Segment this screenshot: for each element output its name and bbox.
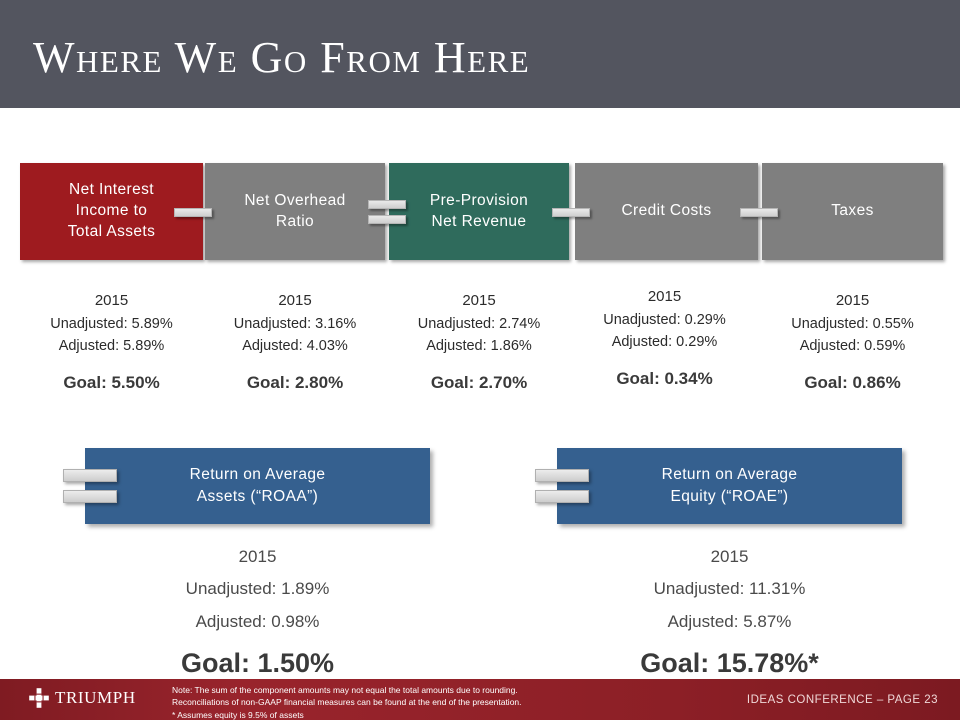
metric-column-net-interest-income: 2015 Unadjusted: 5.89% Adjusted: 5.89% G… bbox=[20, 290, 203, 393]
equals-bar-top bbox=[63, 469, 117, 482]
metric-adjusted: Adjusted: 4.03% bbox=[205, 335, 385, 357]
return-box-label-line2: Equity (“ROAE”) bbox=[671, 488, 789, 505]
page-title: Where We Go From Here bbox=[33, 36, 530, 80]
metric-goal: Goal: 2.80% bbox=[205, 373, 385, 393]
minus-bar bbox=[740, 208, 778, 217]
footer-page-label: IDEAS CONFERENCE – PAGE 23 bbox=[747, 694, 938, 706]
return-box-label: Return on Average Assets (“ROAA”) bbox=[190, 464, 326, 507]
operator-equals-roaa bbox=[63, 466, 117, 506]
operator-minus-3 bbox=[740, 199, 778, 225]
metric-column-net-overhead-ratio: 2015 Unadjusted: 3.16% Adjusted: 4.03% G… bbox=[205, 290, 385, 393]
operator-minus-1 bbox=[174, 199, 212, 225]
minus-bar bbox=[552, 208, 590, 217]
metric-goal: Goal: 0.34% bbox=[573, 369, 756, 389]
metric-goal: Goal: 0.86% bbox=[762, 373, 943, 393]
slide-canvas: Where We Go From Here Net Interest Incom… bbox=[0, 0, 960, 720]
process-box-credit-costs[interactable]: Credit Costs bbox=[575, 163, 758, 260]
process-box-label: Net Overhead Ratio bbox=[244, 191, 345, 233]
return-year: 2015 bbox=[557, 541, 902, 573]
metric-year: 2015 bbox=[762, 290, 943, 313]
footer-note-line3: * Assumes equity is 9.5% of assets bbox=[172, 709, 522, 721]
equals-bar-top bbox=[368, 200, 406, 209]
metric-goal: Goal: 5.50% bbox=[20, 373, 203, 393]
process-box-label-line1: Credit Costs bbox=[621, 201, 711, 222]
process-box-label-line3: Total Assets bbox=[68, 222, 156, 243]
process-box-taxes[interactable]: Taxes bbox=[762, 163, 943, 260]
equals-bar-bottom bbox=[63, 490, 117, 503]
return-box-roae[interactable]: Return on Average Equity (“ROAE”) bbox=[557, 448, 902, 524]
process-box-pre-provision-net-revenue[interactable]: Pre-Provision Net Revenue bbox=[389, 163, 569, 260]
equals-bar-top bbox=[535, 469, 589, 482]
operator-equals-roae bbox=[535, 466, 589, 506]
operator-equals-1 bbox=[368, 199, 406, 225]
process-box-label: Net Interest Income to Total Assets bbox=[68, 180, 156, 243]
metric-column-credit-costs: 2015 Unadjusted: 0.29% Adjusted: 0.29% G… bbox=[573, 286, 756, 389]
process-box-label-line1: Pre-Provision bbox=[430, 191, 528, 212]
minus-bar bbox=[174, 208, 212, 217]
process-box-label: Pre-Provision Net Revenue bbox=[430, 191, 528, 233]
return-box-label: Return on Average Equity (“ROAE”) bbox=[662, 464, 798, 507]
return-unadjusted: Unadjusted: 1.89% bbox=[85, 573, 430, 605]
metric-adjusted: Adjusted: 5.89% bbox=[20, 335, 203, 357]
equals-bar-bottom bbox=[368, 215, 406, 224]
metric-goal: Goal: 2.70% bbox=[389, 373, 569, 393]
return-stats-roae: 2015 Unadjusted: 11.31% Adjusted: 5.87% … bbox=[557, 541, 902, 679]
metric-adjusted: Adjusted: 0.59% bbox=[762, 335, 943, 357]
brand-logo-text: TRIUMPH bbox=[55, 688, 136, 708]
metric-unadjusted: Unadjusted: 2.74% bbox=[389, 313, 569, 335]
operator-minus-2 bbox=[552, 199, 590, 225]
return-box-label-line1: Return on Average bbox=[190, 466, 326, 483]
process-box-label-line1: Net Interest bbox=[68, 180, 156, 201]
process-box-label-line2: Net Revenue bbox=[430, 212, 528, 233]
return-unadjusted: Unadjusted: 11.31% bbox=[557, 573, 902, 605]
metric-unadjusted: Unadjusted: 5.89% bbox=[20, 313, 203, 335]
return-box-label-line2: Assets (“ROAA”) bbox=[197, 488, 318, 505]
metric-column-taxes: 2015 Unadjusted: 0.55% Adjusted: 0.59% G… bbox=[762, 290, 943, 393]
footer-note: Note: The sum of the component amounts m… bbox=[172, 684, 522, 721]
return-box-roaa[interactable]: Return on Average Assets (“ROAA”) bbox=[85, 448, 430, 524]
brand-logo: TRIUMPH bbox=[28, 687, 136, 709]
metric-column-pre-provision-net-revenue: 2015 Unadjusted: 2.74% Adjusted: 1.86% G… bbox=[389, 290, 569, 393]
cross-mark-icon bbox=[28, 687, 50, 709]
return-stats-roaa: 2015 Unadjusted: 1.89% Adjusted: 0.98% G… bbox=[85, 541, 430, 679]
metric-year: 2015 bbox=[573, 286, 756, 309]
footer-note-line1: Note: The sum of the component amounts m… bbox=[172, 684, 522, 696]
return-goal: Goal: 1.50% bbox=[85, 648, 430, 679]
metric-unadjusted: Unadjusted: 0.55% bbox=[762, 313, 943, 335]
footer-note-line2: Reconciliations of non-GAAP financial me… bbox=[172, 696, 522, 708]
metric-adjusted: Adjusted: 0.29% bbox=[573, 331, 756, 353]
metric-year: 2015 bbox=[389, 290, 569, 313]
process-box-label: Taxes bbox=[831, 201, 874, 222]
process-box-label-line1: Taxes bbox=[831, 201, 874, 222]
return-box-label-line1: Return on Average bbox=[662, 466, 798, 483]
metric-year: 2015 bbox=[20, 290, 203, 313]
metric-year: 2015 bbox=[205, 290, 385, 313]
metric-adjusted: Adjusted: 1.86% bbox=[389, 335, 569, 357]
return-goal: Goal: 15.78%* bbox=[557, 648, 902, 679]
return-adjusted: Adjusted: 5.87% bbox=[557, 606, 902, 638]
metric-unadjusted: Unadjusted: 0.29% bbox=[573, 309, 756, 331]
process-box-label-line1: Net Overhead bbox=[244, 191, 345, 212]
process-box-label: Credit Costs bbox=[621, 201, 711, 222]
process-box-net-overhead-ratio[interactable]: Net Overhead Ratio bbox=[205, 163, 385, 260]
process-box-label-line2: Income to bbox=[68, 201, 156, 222]
equals-bar-bottom bbox=[535, 490, 589, 503]
process-box-label-line2: Ratio bbox=[244, 212, 345, 233]
metric-unadjusted: Unadjusted: 3.16% bbox=[205, 313, 385, 335]
return-year: 2015 bbox=[85, 541, 430, 573]
return-adjusted: Adjusted: 0.98% bbox=[85, 606, 430, 638]
